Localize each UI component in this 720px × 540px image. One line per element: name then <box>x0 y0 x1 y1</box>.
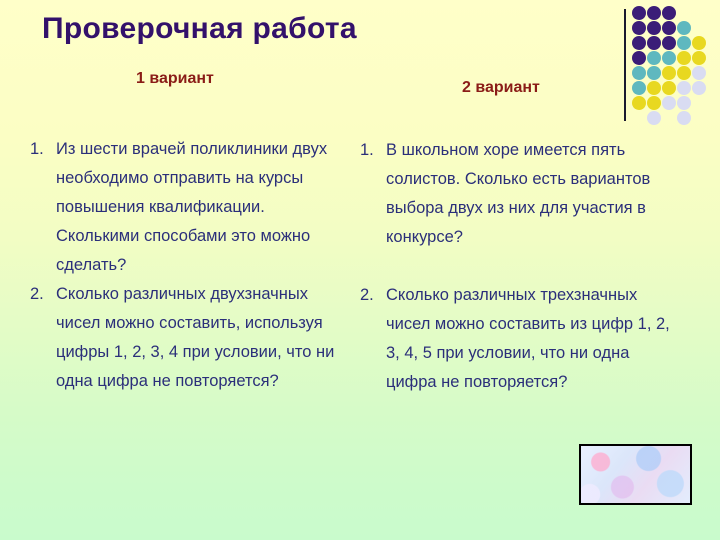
task-number: 2. <box>360 281 386 310</box>
decorative-dot <box>677 81 691 95</box>
decorative-dot <box>647 111 661 125</box>
task-item: 1. Из шести врачей поликлиники двух необ… <box>30 135 345 280</box>
decorative-dot <box>662 96 676 110</box>
decorative-dot <box>647 36 661 50</box>
task-text: Сколько различных трехзначных чисел можн… <box>386 281 670 397</box>
decorative-dot <box>692 51 706 65</box>
decorative-dot <box>647 51 661 65</box>
decorative-dot <box>677 36 691 50</box>
decorative-dot <box>632 6 646 20</box>
decorative-dot <box>662 21 676 35</box>
decorative-dot <box>632 96 646 110</box>
decorative-dot <box>647 6 661 20</box>
decorative-dot-grid <box>632 6 720 126</box>
variant-1-task-list: 1. Из шести врачей поликлиники двух необ… <box>30 135 345 396</box>
task-text: Сколько различных двухзначных чисел можн… <box>56 280 345 396</box>
variant-1-label: 1 вариант <box>136 70 214 88</box>
decorative-dot <box>662 36 676 50</box>
task-text: В школьном хоре имеется пять солистов. С… <box>386 136 670 252</box>
decorative-dot <box>677 21 691 35</box>
decorative-dot <box>647 96 661 110</box>
decorative-dot <box>677 111 691 125</box>
decorative-dot <box>692 66 706 80</box>
decorative-dot <box>677 66 691 80</box>
task-item: 1. В школьном хоре имеется пять солистов… <box>360 136 670 252</box>
decorative-dot <box>677 96 691 110</box>
task-number: 1. <box>360 136 386 165</box>
decorative-dot <box>647 81 661 95</box>
decorative-dot <box>632 81 646 95</box>
slide-canvas: Проверочная работа 1 вариант 2 вариант 1… <box>0 0 720 540</box>
decorative-dot <box>677 51 691 65</box>
decorative-dot <box>662 81 676 95</box>
task-item: 2. Сколько различных двухзначных чисел м… <box>30 280 345 396</box>
decorative-dot <box>692 81 706 95</box>
decorative-dot <box>632 66 646 80</box>
decorative-dot <box>632 21 646 35</box>
task-item: 2. Сколько различных трехзначных чисел м… <box>360 281 670 397</box>
decorative-dot <box>647 21 661 35</box>
decorative-dot <box>662 66 676 80</box>
decorative-dot <box>662 6 676 20</box>
vertical-divider-line <box>624 9 626 121</box>
decorative-dot <box>692 36 706 50</box>
decorative-dot <box>632 36 646 50</box>
task-text: Из шести врачей поликлиники двух необход… <box>56 135 345 280</box>
variant-2-task-list: 1. В школьном хоре имеется пять солистов… <box>360 136 670 397</box>
picture-placeholder <box>579 444 692 505</box>
task-number: 2. <box>30 280 56 309</box>
page-title: Проверочная работа <box>42 12 357 46</box>
variant-2-label: 2 вариант <box>462 79 540 97</box>
decorative-dot <box>647 66 661 80</box>
task-number: 1. <box>30 135 56 164</box>
decorative-dot <box>632 51 646 65</box>
decorative-dot <box>662 51 676 65</box>
